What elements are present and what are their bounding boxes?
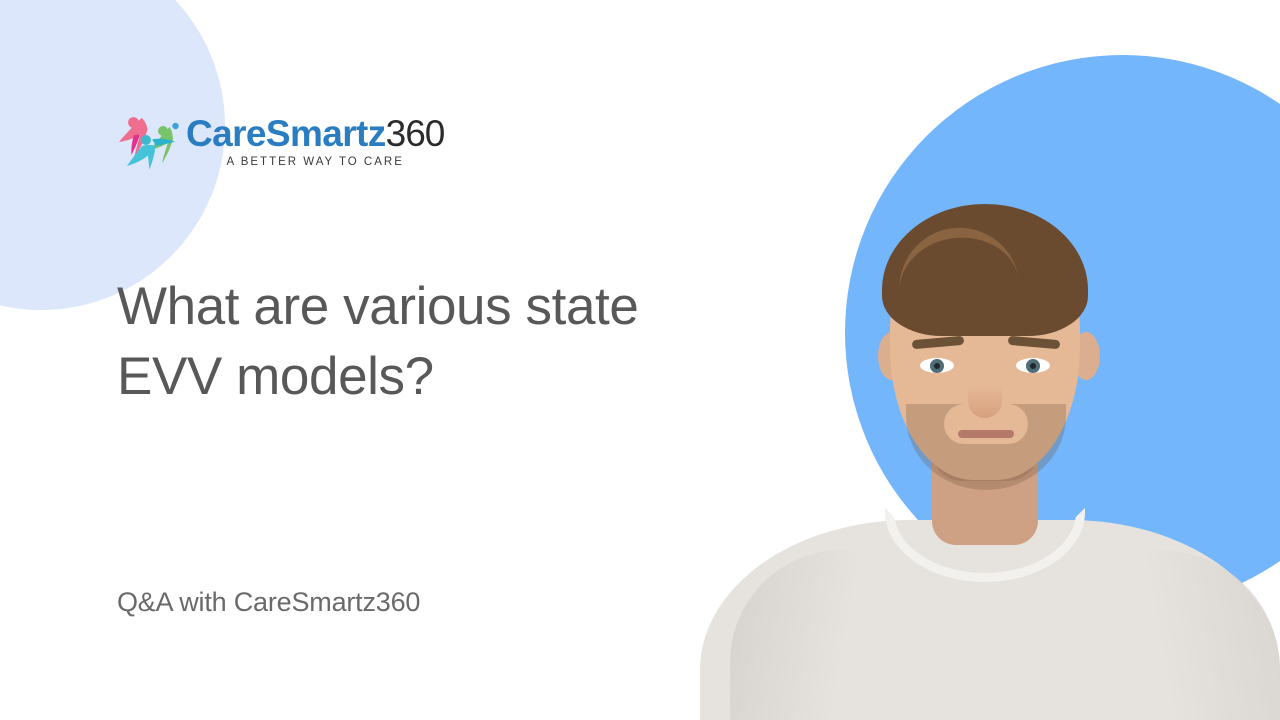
caresmartz360-people-mark-icon xyxy=(116,110,182,172)
logo-word-caresmartz: CareSmartz xyxy=(186,113,386,154)
brand-logo: CareSmartz360 A BETTER WAY TO CARE xyxy=(116,110,444,172)
logo-wordmark-block: CareSmartz360 A BETTER WAY TO CARE xyxy=(186,110,444,168)
presentation-slide: CareSmartz360 A BETTER WAY TO CARE What … xyxy=(0,0,1280,720)
logo-tagline: A BETTER WAY TO CARE xyxy=(186,156,444,168)
presenter-eye-left xyxy=(920,358,954,373)
presenter-shirt-shade-right xyxy=(1120,550,1280,720)
logo-word-360: 360 xyxy=(386,113,445,154)
logo-wordmark: CareSmartz360 xyxy=(186,114,444,153)
presenter-iris-right xyxy=(1026,359,1040,373)
presenter-nose xyxy=(968,372,1002,418)
slide-subtitle: Q&A with CareSmartz360 xyxy=(117,585,420,619)
presenter-eye-right xyxy=(1016,358,1050,373)
presenter-portrait xyxy=(700,190,1280,720)
slide-headline: What are various state EVV models? xyxy=(117,272,757,412)
presenter-mouth xyxy=(958,430,1014,438)
presenter-iris-left xyxy=(930,359,944,373)
